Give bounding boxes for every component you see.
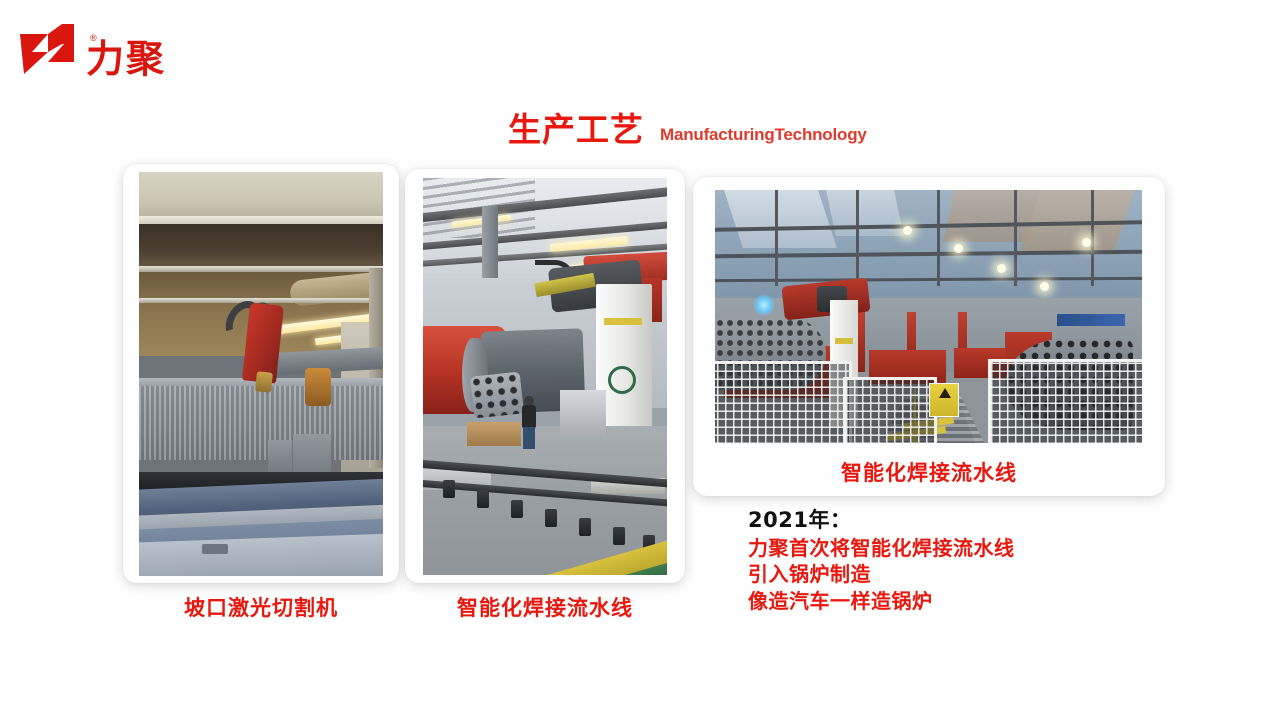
photo-intelligent-welding-line-wide [715,190,1142,443]
milestone-line-1: 力聚首次将智能化焊接流水线 [748,535,1148,561]
photo-card-welding-line[interactable] [405,169,685,583]
page-title-en: ManufacturingTechnology [660,125,867,145]
photo-intelligent-welding-assembly-line [423,178,667,575]
milestone-line-3: 像造汽车一样造锅炉 [748,588,1148,614]
milestone-year: 2021年： [748,506,1148,535]
caption-laser-cutter: 坡口激光切割机 [123,592,399,622]
brand-name: 力聚 [86,40,166,78]
brand-logo[interactable]: ® 力聚 [18,18,248,88]
caption-welding-line: 智能化焊接流水线 [405,592,685,622]
photo-card-welding-hall[interactable]: 智能化焊接流水线 [693,177,1165,496]
milestone-note: 2021年： 力聚首次将智能化焊接流水线 引入锅炉制造 像造汽车一样造锅炉 [748,506,1148,614]
warning-sign-icon [929,383,959,417]
photo-card-laser-cutter[interactable] [123,164,399,583]
milestone-line-2: 引入锅炉制造 [748,561,1148,587]
page-title: 生产工艺 ManufacturingTechnology [508,112,867,148]
photo-bevel-laser-cutting-machine [139,172,383,576]
page-title-cn: 生产工艺 [508,112,644,148]
lijv-lightning-logo-icon [18,22,84,80]
caption-welding-hall: 智能化焊接流水线 [693,457,1165,487]
slide-root: ® 力聚 生产工艺 ManufacturingTechnology [0,0,1280,720]
